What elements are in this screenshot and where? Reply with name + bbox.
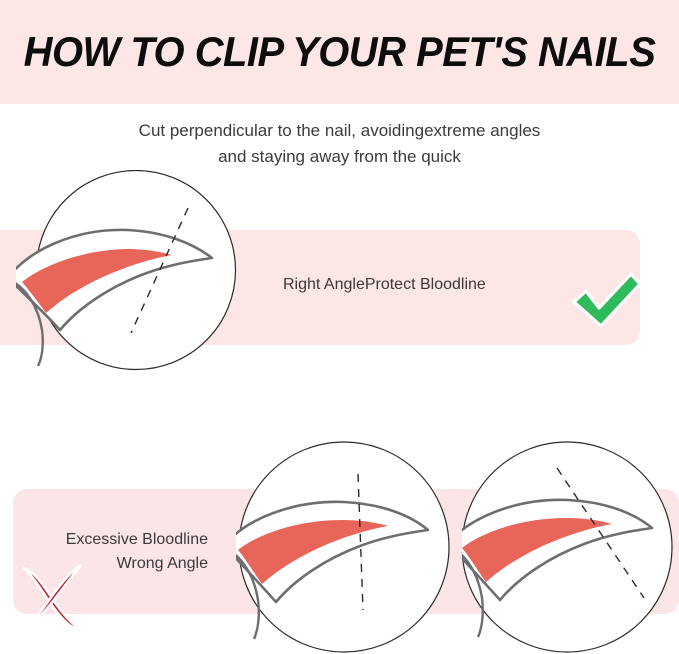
nail-figure-correct-angle [16,170,257,371]
page-title: HOW TO CLIP YOUR PET'S NAILS [17,0,662,104]
nail-figure-wrong-angle [462,440,679,654]
check-mark-icon [570,268,642,332]
wrong-row-label-line-1: Excessive Bloodline [28,528,208,552]
cross-mark-icon [18,562,86,634]
subtitle-line-1: Cut perpendicular to the nail, avoidinge… [0,118,679,144]
subtitle: Cut perpendicular to the nail, avoidinge… [0,118,679,170]
subtitle-line-2: and staying away from the quick [0,144,679,170]
correct-row-label: Right AngleProtect Bloodline [283,276,486,294]
infographic-page: HOW TO CLIP YOUR PET'S NAILS Cut perpend… [0,0,679,654]
nail-figure-excessive-bloodline [236,440,451,654]
